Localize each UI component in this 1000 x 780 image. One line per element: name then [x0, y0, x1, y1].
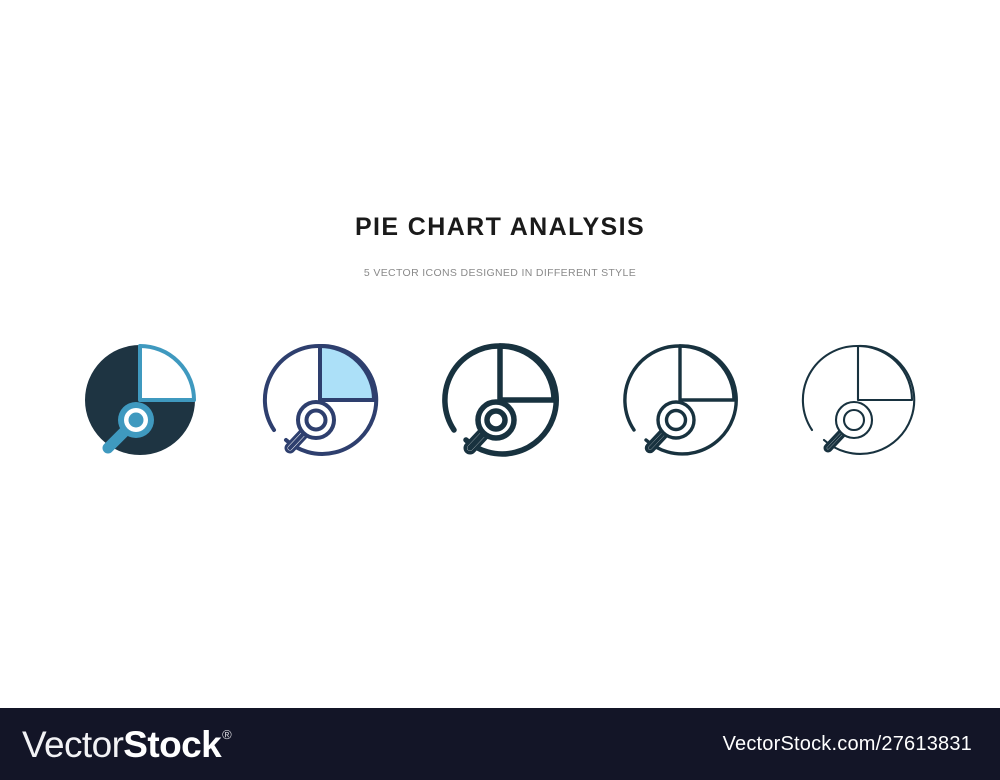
icon-variant-regular-outline[interactable]: [610, 330, 750, 470]
page-title: PIE CHART ANALYSIS: [0, 212, 1000, 242]
logo-text-light: Vector: [22, 726, 123, 763]
icon-variant-bold-outline[interactable]: [430, 330, 570, 470]
artboard: PIE CHART ANALYSIS 5 VECTOR ICONS DESIGN…: [0, 0, 1000, 708]
page-subtitle: 5 VECTOR ICONS DESIGNED IN DIFFERENT STY…: [0, 242, 1000, 280]
header: PIE CHART ANALYSIS 5 VECTOR ICONS DESIGN…: [0, 212, 1000, 280]
logo-text-bold: Stock: [123, 726, 221, 763]
icon-row: [0, 330, 1000, 480]
footer-url[interactable]: VectorStock.com/27613831: [723, 733, 972, 756]
pie-chart-analysis-regular-outline-icon: [625, 346, 736, 454]
footer-bar: VectorStock® VectorStock.com/27613831: [0, 708, 1000, 780]
pie-chart-analysis-bold-outline-icon: [445, 346, 556, 454]
registered-trademark-icon: ®: [222, 728, 232, 741]
icon-variant-thin-outline[interactable]: [788, 330, 928, 470]
pie-chart-analysis-filled-icon: [85, 345, 195, 455]
icon-variant-two-tone-outline[interactable]: [250, 330, 390, 470]
pie-chart-analysis-thin-outline-icon: [803, 346, 914, 454]
pie-chart-analysis-two-tone-outline-icon: [265, 346, 376, 454]
vectorstock-logo[interactable]: VectorStock®: [22, 726, 231, 763]
icon-variant-filled[interactable]: [70, 330, 210, 470]
